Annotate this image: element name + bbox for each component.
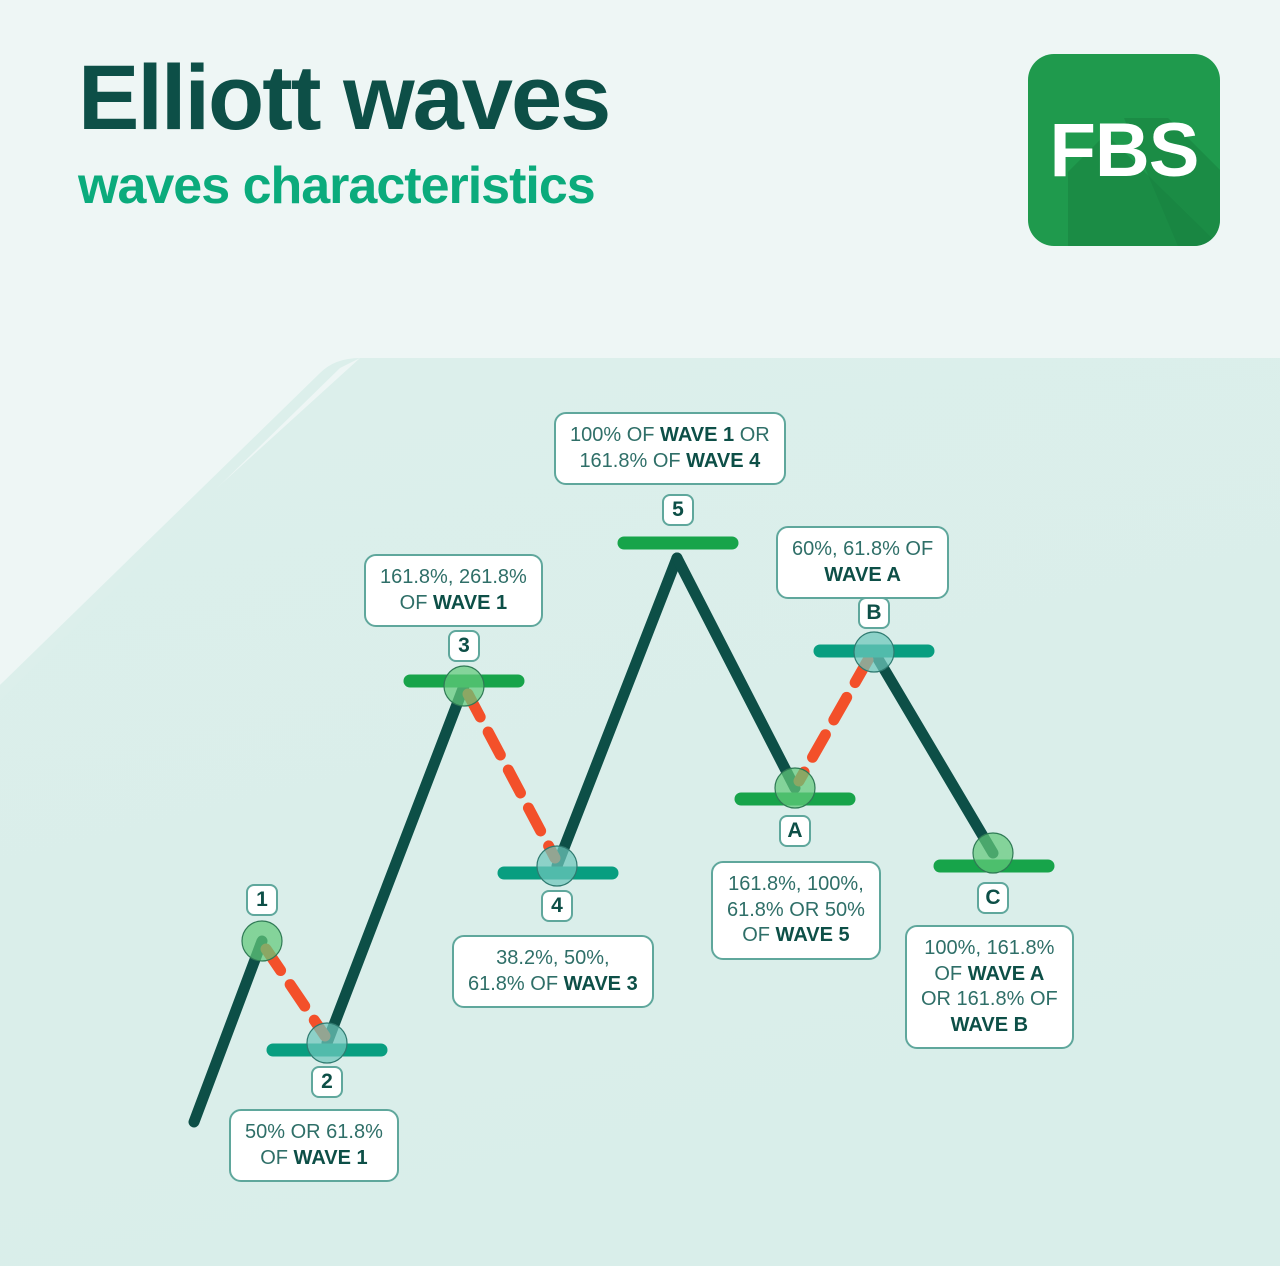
- segment-b-to-c: [874, 652, 993, 853]
- wave-tag-c[interactable]: C: [977, 882, 1009, 914]
- callout-wave-4: 38.2%, 50%, 61.8% OF WAVE 3: [452, 935, 654, 1008]
- callout-line: 61.8% OF WAVE 3: [468, 972, 638, 998]
- callout-line: 60%, 61.8% OF: [792, 537, 933, 563]
- callout-line: OR 161.8% OF: [921, 987, 1058, 1013]
- segment-1-to-2: [266, 949, 325, 1036]
- page-title: Elliott waves: [78, 52, 609, 144]
- logo-label: FBS: [1028, 54, 1220, 246]
- callout-line: 161.8% OF WAVE 4: [570, 449, 770, 475]
- callout-line: OF WAVE 1: [380, 591, 527, 617]
- page-subtitle: waves characteristics: [78, 160, 609, 212]
- callout-line: WAVE A: [792, 563, 933, 589]
- callout-wave-a: 161.8%, 100%, 61.8% OR 50% OF WAVE 5: [711, 861, 881, 960]
- wave-tag-2[interactable]: 2: [311, 1066, 343, 1098]
- wave-tag-1[interactable]: 1: [246, 884, 278, 916]
- callout-line: 100% OF WAVE 1 OR: [570, 423, 770, 449]
- callout-line: 161.8%, 261.8%: [380, 565, 527, 591]
- wave-tag-a[interactable]: A: [779, 815, 811, 847]
- callout-line: OF WAVE A: [921, 962, 1058, 988]
- marker-wave-c: [973, 833, 1013, 873]
- callout-line: 38.2%, 50%,: [468, 946, 638, 972]
- marker-wave-b: [854, 632, 894, 672]
- callout-wave-b: 60%, 61.8% OF WAVE A: [776, 526, 949, 599]
- wave-tag-4[interactable]: 4: [541, 890, 573, 922]
- segment-start-to-1: [194, 941, 262, 1122]
- callout-line: 100%, 161.8%: [921, 936, 1058, 962]
- callout-wave-5: 100% OF WAVE 1 OR 161.8% OF WAVE 4: [554, 412, 786, 485]
- segment-4-to-5: [557, 558, 677, 866]
- marker-wave-4: [537, 846, 577, 886]
- header: Elliott waves waves characteristics FBS: [0, 0, 1280, 300]
- fbs-logo[interactable]: FBS: [1028, 54, 1220, 246]
- marker-wave-1: [242, 921, 282, 961]
- marker-wave-3: [444, 666, 484, 706]
- wave-tag-b[interactable]: B: [858, 597, 890, 629]
- marker-wave-a: [775, 768, 815, 808]
- callout-wave-3: 161.8%, 261.8% OF WAVE 1: [364, 554, 543, 627]
- segment-2-to-3: [327, 686, 464, 1043]
- segment-3-to-4: [468, 694, 555, 858]
- callout-wave-c: 100%, 161.8% OF WAVE A OR 161.8% OF WAVE…: [905, 925, 1074, 1049]
- wave-tag-5[interactable]: 5: [662, 494, 694, 526]
- segment-a-to-b: [799, 660, 868, 781]
- callout-line: 61.8% OR 50%: [727, 898, 865, 924]
- wave-tag-3[interactable]: 3: [448, 630, 480, 662]
- callout-line: WAVE B: [921, 1013, 1058, 1039]
- callout-line: 161.8%, 100%,: [727, 872, 865, 898]
- callout-line: OF WAVE 5: [727, 923, 865, 949]
- callout-line: OF WAVE 1: [245, 1146, 383, 1172]
- callout-line: 50% OR 61.8%: [245, 1120, 383, 1146]
- callout-wave-1: 50% OR 61.8% OF WAVE 1: [229, 1109, 399, 1182]
- marker-wave-2: [307, 1023, 347, 1063]
- title-block: Elliott waves waves characteristics: [78, 52, 609, 212]
